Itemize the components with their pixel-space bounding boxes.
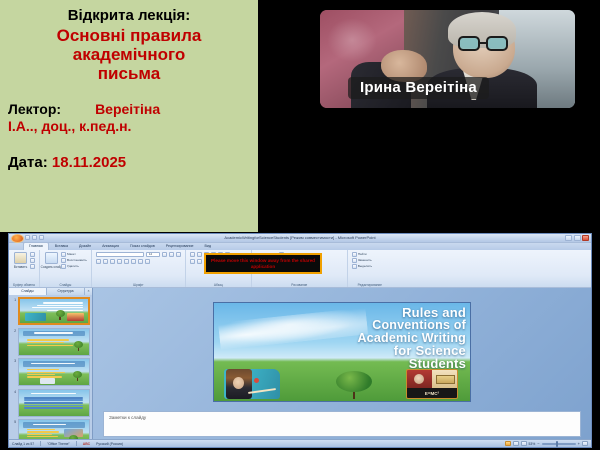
decrease-font-icon[interactable] (169, 252, 174, 257)
ribbon-group-editing: Найти Заменить Выделить Редактирование (348, 250, 392, 287)
speaker-name-badge: Ірина Вереітіна (348, 77, 489, 99)
ribbon-tab-strip[interactable]: Главная Вставка Дизайн Анимация Показ сл… (9, 243, 591, 250)
thumbnail-slide-3[interactable]: 3 (11, 358, 90, 386)
powerpoint-workspace: Слайды Структура × 1 (9, 288, 591, 439)
copy-button[interactable] (30, 258, 35, 263)
layout-button[interactable]: Макет (61, 252, 87, 257)
format-painter-button[interactable] (30, 264, 35, 269)
zoom-slider[interactable] (542, 443, 576, 445)
status-bar-right[interactable]: 53% − + (505, 441, 588, 446)
align-left-icon[interactable] (190, 259, 195, 264)
thumbnail-preview[interactable] (18, 297, 91, 325)
strikethrough-icon[interactable] (117, 259, 122, 264)
date-label: Дата: (8, 154, 48, 171)
numbered-list-icon[interactable] (197, 252, 202, 257)
zoom-out-button[interactable]: − (537, 442, 539, 446)
bold-icon[interactable] (96, 259, 101, 264)
date-value: 18.11.2025 (52, 154, 126, 171)
ribbon-group-clipboard: Вставить Буфер обмена (9, 250, 40, 287)
slide-edit-area[interactable]: Rules and Conventions of Academic Writin… (93, 288, 591, 439)
view-slide-sorter-button[interactable] (513, 441, 519, 446)
window-title-text: AcademicWritingforScienceStudents [Режим… (224, 235, 375, 240)
view-normal-button[interactable] (505, 441, 511, 446)
thumbnail-number: 4 (11, 389, 16, 394)
shadow-icon[interactable] (124, 259, 129, 264)
spellcheck-icon[interactable]: ABC (83, 442, 90, 446)
close-icon[interactable] (582, 235, 589, 241)
window-controls[interactable] (565, 235, 589, 241)
ribbon-group-paragraph-label: Абзац (186, 283, 251, 287)
tab-slides[interactable]: Слайды (9, 288, 47, 295)
share-warning-box: Please move this window away from the sh… (204, 253, 322, 274)
tab-animation[interactable]: Анимация (97, 243, 124, 250)
format-painter-icon[interactable] (30, 264, 35, 269)
tab-view[interactable]: Вид (200, 243, 217, 250)
einstein-portrait (407, 370, 432, 388)
tab-review[interactable]: Рецензирование (161, 243, 199, 250)
share-warning-text: Please move this window away from the sh… (206, 258, 320, 269)
lecture-title-line-3: письма (8, 64, 250, 83)
tab-insert[interactable]: Вставка (50, 243, 73, 250)
thumbnail-number: 1 (11, 297, 16, 302)
scissors-icon[interactable] (30, 252, 35, 257)
window-title-bar[interactable]: AcademicWritingforScienceStudents [Режим… (9, 234, 591, 243)
italic-icon[interactable] (103, 259, 108, 264)
zoom-slider-thumb[interactable] (556, 441, 559, 447)
thumbnail-list[interactable]: 1 2 (9, 295, 92, 439)
ribbon[interactable]: Вставить Буфер обмена (9, 250, 591, 288)
lecture-label: Відкрита лекція: (8, 8, 250, 25)
delete-label: Удалить (67, 264, 79, 268)
thumbnail-slide-5[interactable]: 5 (11, 419, 90, 439)
restore-icon[interactable] (574, 235, 581, 241)
newton-portrait (226, 369, 252, 399)
lecturer-name-line-1: Вереітіна (95, 101, 160, 117)
replace-icon[interactable] (352, 258, 357, 263)
thumbnail-slide-2[interactable]: 2 (11, 328, 90, 356)
lecture-title-line-1: Основні правила (8, 26, 250, 45)
newton-face (233, 377, 244, 389)
close-pane-icon[interactable]: × (85, 288, 92, 295)
character-spacing-icon[interactable] (131, 259, 136, 264)
glasses-right-lens (486, 36, 508, 51)
font-color-icon[interactable] (145, 259, 150, 264)
thumbnail-slide-1[interactable]: 1 (11, 297, 90, 325)
thumbnail-pane-tabs[interactable]: Слайды Структура × (9, 288, 92, 295)
books-image (432, 370, 457, 388)
emc2-formula: E=MC² (407, 388, 457, 398)
slide-counter: Слайд 1 из 57 (12, 442, 34, 446)
tab-outline[interactable]: Структура (47, 288, 85, 295)
thumbnail-number: 2 (11, 328, 16, 333)
quick-access-toolbar[interactable] (25, 235, 44, 240)
lecture-title-panel: Відкрита лекція: Основні правила академі… (0, 0, 258, 232)
font-size-combo[interactable]: 12 (146, 252, 160, 257)
paste-button[interactable]: Вставить (13, 252, 28, 269)
bullet-list-icon[interactable] (190, 252, 195, 257)
new-slide-button[interactable]: Создать слайд (44, 252, 59, 269)
ribbon-group-slides: Создать слайд Макет Восстановить Удалить (40, 250, 92, 287)
tab-slideshow[interactable]: Показ слайдов (125, 243, 160, 250)
find-button[interactable]: Найти (352, 252, 388, 257)
cut-button[interactable] (30, 252, 35, 257)
paste-label: Вставить (14, 265, 28, 269)
ribbon-group-slides-label: Слайды (40, 283, 91, 287)
zoom-in-button[interactable]: + (578, 442, 580, 446)
align-center-icon[interactable] (197, 259, 202, 264)
view-slideshow-button[interactable] (521, 441, 527, 446)
language-indicator[interactable]: Русский (Россия) (96, 442, 123, 446)
newton-pen (248, 388, 276, 394)
undo-icon[interactable] (32, 235, 37, 240)
new-slide-icon[interactable] (45, 252, 58, 264)
select-button[interactable]: Выделить (352, 264, 388, 269)
ribbon-group-font-label: Шрифт (92, 283, 185, 287)
layout-label: Макет (67, 252, 76, 256)
layout-icon[interactable] (61, 252, 66, 257)
slide-title-line-2: Conventions of (282, 319, 466, 332)
ribbon-group-font: 12 Шрифт (92, 250, 186, 287)
delete-icon[interactable] (61, 264, 66, 269)
glasses-left-lens (458, 36, 480, 51)
notes-pane[interactable]: Заметки к слайду (103, 411, 581, 437)
find-label: Найти (358, 252, 367, 256)
einstein-image[interactable]: E=MC² (406, 369, 458, 399)
lecturer-label: Лектор: (8, 101, 61, 117)
paste-icon[interactable] (14, 252, 27, 264)
new-slide-label: Создать слайд (41, 265, 63, 269)
redo-icon[interactable] (39, 235, 44, 240)
search-icon[interactable] (352, 252, 357, 257)
thumbnail-preview[interactable] (18, 389, 91, 417)
fit-to-window-button[interactable] (582, 441, 588, 446)
thumbnail-slide-4[interactable]: 4 (11, 389, 90, 417)
clear-formatting-icon[interactable] (176, 252, 181, 257)
glasses-icon (458, 36, 512, 51)
thumbnail-preview[interactable] (18, 328, 91, 356)
increase-font-icon[interactable] (162, 252, 167, 257)
office-button-icon[interactable] (11, 234, 24, 243)
ribbon-group-editing-label: Редактирование (348, 283, 392, 287)
top-banner-area: Відкрита лекція: Основні правила академі… (0, 0, 600, 232)
reset-button[interactable]: Восстановить (61, 258, 87, 263)
ribbon-group-clipboard-label: Буфер обмена (9, 283, 39, 287)
replace-button[interactable]: Заменить (352, 258, 388, 263)
save-icon[interactable] (25, 235, 30, 240)
current-slide-canvas[interactable]: Rules and Conventions of Academic Writin… (213, 302, 471, 402)
lecturer-name-line-2: І.А.., доц., к.пед.н. (8, 118, 250, 135)
tab-home[interactable]: Главная (23, 242, 49, 250)
newton-image[interactable] (224, 369, 280, 399)
status-bar[interactable]: Слайд 1 из 57 "Office Theme" ABC Русский… (9, 439, 591, 447)
change-case-icon[interactable] (138, 259, 143, 264)
lecture-title: Основні правила академічного письма (8, 26, 250, 83)
thumbnail-preview[interactable] (18, 358, 91, 386)
replace-label: Заменить (358, 258, 372, 262)
ribbon-group-drawing-label: Рисование (252, 283, 347, 287)
minimize-icon[interactable] (565, 235, 572, 241)
lecture-title-line-2: академічного (8, 45, 250, 64)
copy-icon[interactable] (30, 258, 35, 263)
reset-icon[interactable] (61, 258, 66, 263)
theme-name: "Office Theme" (47, 442, 70, 446)
thumbnail-preview[interactable] (18, 419, 91, 439)
newton-apple (254, 378, 259, 383)
slide-title[interactable]: Rules and Conventions of Academic Writin… (282, 306, 466, 370)
font-name-combo[interactable] (96, 252, 144, 257)
status-divider (40, 441, 41, 446)
einstein-image-top (407, 370, 457, 388)
status-divider (76, 441, 77, 446)
thumbnail-number: 5 (11, 419, 16, 424)
underline-icon[interactable] (110, 259, 115, 264)
lecturer-block: Лектор:Вереітіна І.А.., доц., к.пед.н. (8, 101, 250, 135)
powerpoint-window[interactable]: AcademicWritingforScienceStudents [Режим… (8, 233, 592, 448)
video-feed-tile[interactable]: Ірина Вереітіна (320, 10, 575, 108)
thumbnail-number: 3 (11, 358, 16, 363)
zoom-level: 53% (529, 442, 536, 446)
slides-thumbnail-pane[interactable]: Слайды Структура × 1 (9, 288, 93, 439)
tab-design[interactable]: Дизайн (74, 243, 96, 250)
tree-image[interactable] (336, 371, 372, 399)
select-label: Выделить (358, 264, 372, 268)
select-icon[interactable] (352, 264, 357, 269)
reset-label: Восстановить (67, 258, 87, 262)
date-block: Дата: 18.11.2025 (8, 154, 250, 171)
glasses-bridge (480, 42, 486, 44)
delete-slide-button[interactable]: Удалить (61, 264, 87, 269)
